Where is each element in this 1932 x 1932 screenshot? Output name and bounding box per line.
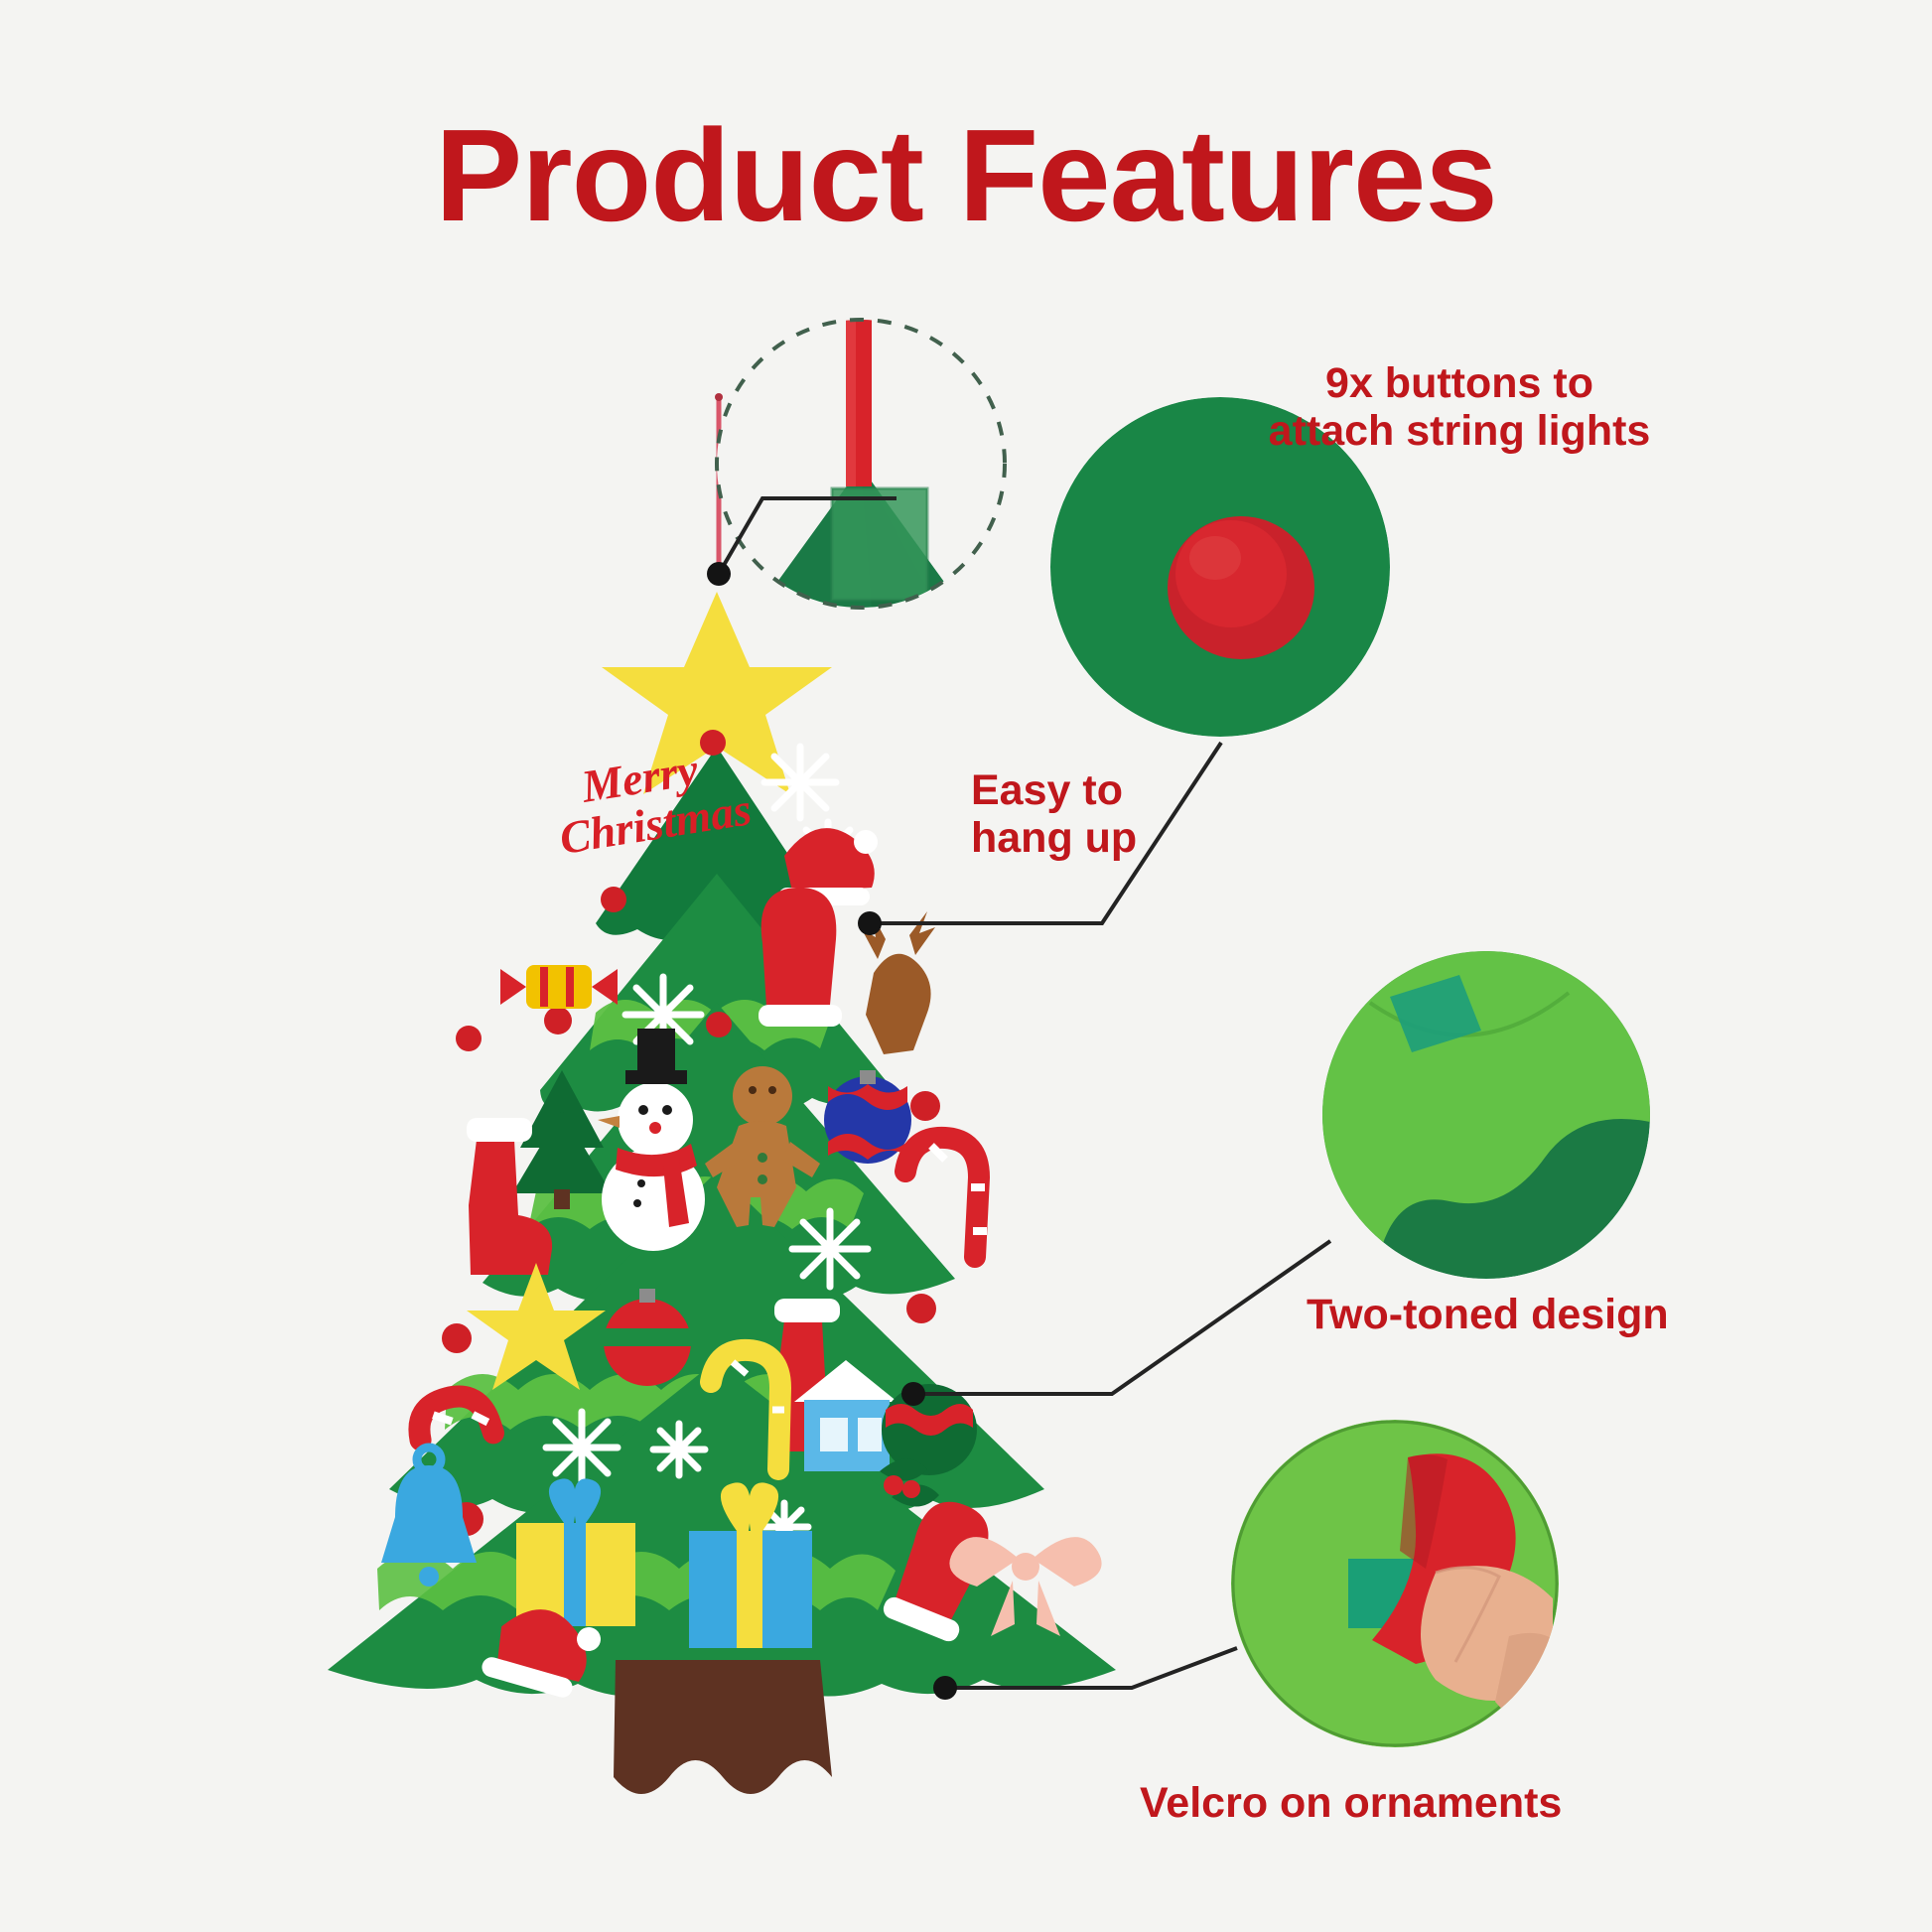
callout-label-buttons: 9x buttons to attach string lights	[1231, 359, 1688, 455]
callout-label-hang-up: Easy to hang up	[971, 766, 1269, 862]
svg-text:Christmas: Christmas	[556, 783, 755, 864]
star-topper-icon	[602, 592, 832, 794]
tree-trunk	[614, 1660, 832, 1794]
candy-cane-icon-2	[411, 1388, 493, 1455]
red-stocking-icon-2	[774, 1299, 860, 1451]
blue-house-icon	[794, 1360, 897, 1471]
leader-line-velcro	[945, 1648, 1237, 1688]
yellow-candy-cane-icon	[711, 1350, 784, 1469]
merry-christmas-lettering: Merry Christmas	[549, 737, 755, 864]
callout-label-two-toned: Two-toned design	[1307, 1291, 1823, 1338]
inset-felt-button	[0, 0, 1932, 1932]
mini-tree-icon	[512, 1070, 612, 1209]
snowman-icon	[598, 1029, 705, 1251]
yellow-star-icon	[467, 1263, 606, 1390]
red-pom-pom	[700, 730, 726, 756]
santa-hat-icon-2	[480, 1596, 605, 1703]
inset-velcro-hand	[0, 0, 1932, 1932]
red-mitten-icon	[759, 888, 842, 1027]
red-mitten-icon-2	[881, 1491, 1004, 1644]
pink-bow-icon	[949, 1537, 1101, 1636]
red-stocking-icon	[467, 1118, 552, 1275]
svg-text:Merry: Merry	[577, 744, 702, 812]
dashed-circle-outline	[717, 320, 1005, 608]
blue-bauble-icon	[824, 1070, 911, 1164]
reindeer-icon	[862, 911, 935, 1054]
leader-line-two-toned	[913, 1241, 1330, 1394]
hanging-thread	[715, 393, 723, 574]
inset-two-toned	[0, 0, 1932, 1932]
leader-line-hang-up	[719, 498, 897, 574]
blue-bell-icon	[381, 1448, 477, 1587]
santa-hat-icon	[778, 828, 878, 905]
snowflake-icon	[546, 747, 868, 1551]
inset-hanging-loop	[0, 0, 1932, 1932]
candy-wrapper-icon	[500, 965, 618, 1009]
page-title: Product Features	[0, 107, 1932, 245]
callout-label-velcro: Velcro on ornaments	[1140, 1779, 1755, 1827]
gingerbread-man-icon	[705, 1066, 820, 1227]
felt-tree-illustration: Merry Christmas	[0, 0, 1932, 1932]
red-bauble-icon	[604, 1289, 691, 1386]
leader-line-dots	[707, 562, 957, 1700]
yellow-gift-icon	[516, 1478, 635, 1626]
green-bauble-icon	[882, 1384, 977, 1475]
tree-ornaments: Merry Christmas	[381, 730, 1102, 1704]
tree-foliage	[328, 747, 1116, 1697]
leader-lines	[0, 0, 1932, 1932]
blue-gift-icon	[689, 1482, 812, 1648]
candy-cane-icon	[905, 1138, 987, 1257]
holly-icon	[880, 1458, 939, 1506]
infographic-canvas: Product Features	[0, 0, 1932, 1932]
